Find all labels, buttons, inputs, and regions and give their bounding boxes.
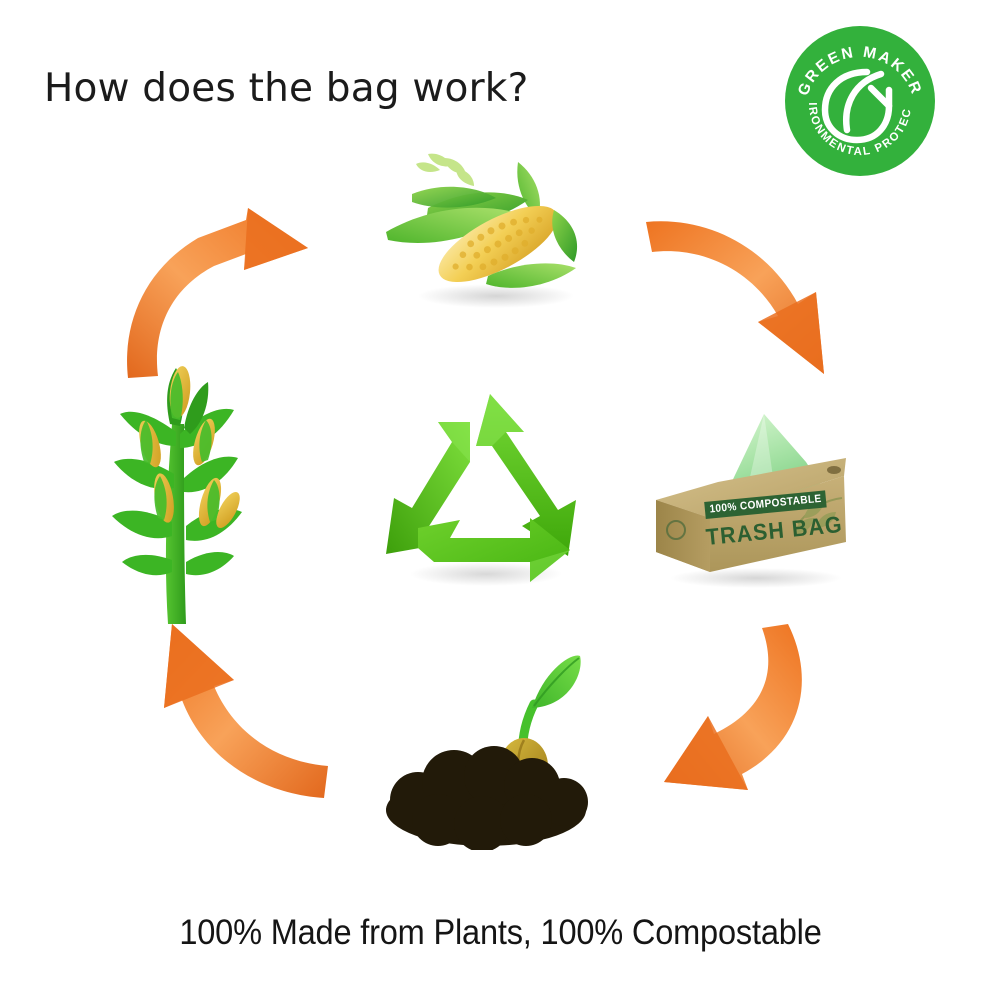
cycle-arrow-bottom-to-left <box>138 618 334 804</box>
leaf-g-monogram-icon <box>825 72 889 140</box>
arrow-head <box>244 208 308 270</box>
soil-sprout-illustration <box>374 642 598 850</box>
corn-tassel <box>416 154 474 186</box>
cycle-arrow-left-to-top <box>118 208 314 384</box>
cycle-arrow-right-to-bottom <box>638 618 844 804</box>
compostable-trash-bag-box: 100% COMPOSTABLE TRASH BAG <box>648 412 854 588</box>
corn-cob-shadow <box>418 284 574 308</box>
green-maker-logo: GREEN MAKER ENVIRONMENTAL PROTECTION <box>785 26 935 176</box>
husk-leaf <box>552 210 577 262</box>
corn-plant-illustration <box>92 362 264 632</box>
box-shadow <box>670 568 842 588</box>
recycling-symbol <box>372 388 600 592</box>
recycle-arrow-upper <box>476 394 576 556</box>
page-title: How does the bag work? <box>44 66 529 111</box>
soil-mound <box>386 746 588 850</box>
page-caption: 100% Made from Plants, 100% Compostable <box>35 913 966 953</box>
box-dispenser-slot <box>827 466 841 474</box>
infographic-canvas: How does the bag work? GREEN MAKER ENVIR… <box>0 0 1001 1001</box>
corn-cob-illustration <box>368 136 608 326</box>
cycle-arrow-top-to-right <box>638 208 844 384</box>
